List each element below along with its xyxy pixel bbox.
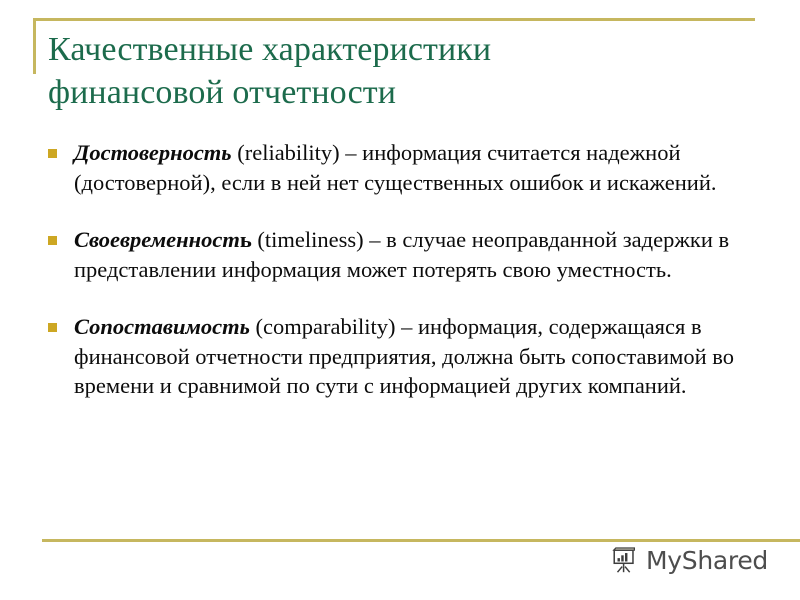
bullet-square-icon [48,236,57,245]
bullet-list: Достоверность (reliability) – информация… [44,138,756,401]
slide-title-line-1: Качественные характеристики [48,28,748,71]
list-item: Достоверность (reliability) – информация… [44,138,756,197]
slide-title-line-2: финансовой отчетности [48,71,748,114]
bullet-term-tail: ь [240,227,252,252]
flipchart-bar-chart-icon [610,545,640,575]
accent-rule-left [33,18,36,74]
myshared-logo-text: MyShared [646,548,768,573]
bullet-square-icon [48,149,57,158]
myshared-logo: MyShared [610,545,768,575]
list-item: Сопоставимость (comparability) – информа… [44,312,756,401]
presentation-slide: Качественные характеристики финансовой о… [0,0,800,600]
list-item: Своевременность (timeliness) – в случае … [44,225,756,284]
slide-title: Качественные характеристики финансовой о… [48,28,748,114]
bullet-term: Своевременност [74,227,240,252]
bullet-term: Сопоставимость [74,314,250,339]
bullet-term: Достоверность [74,140,232,165]
accent-rule-top [33,18,755,21]
bullet-square-icon [48,323,57,332]
accent-rule-bottom [42,539,800,542]
